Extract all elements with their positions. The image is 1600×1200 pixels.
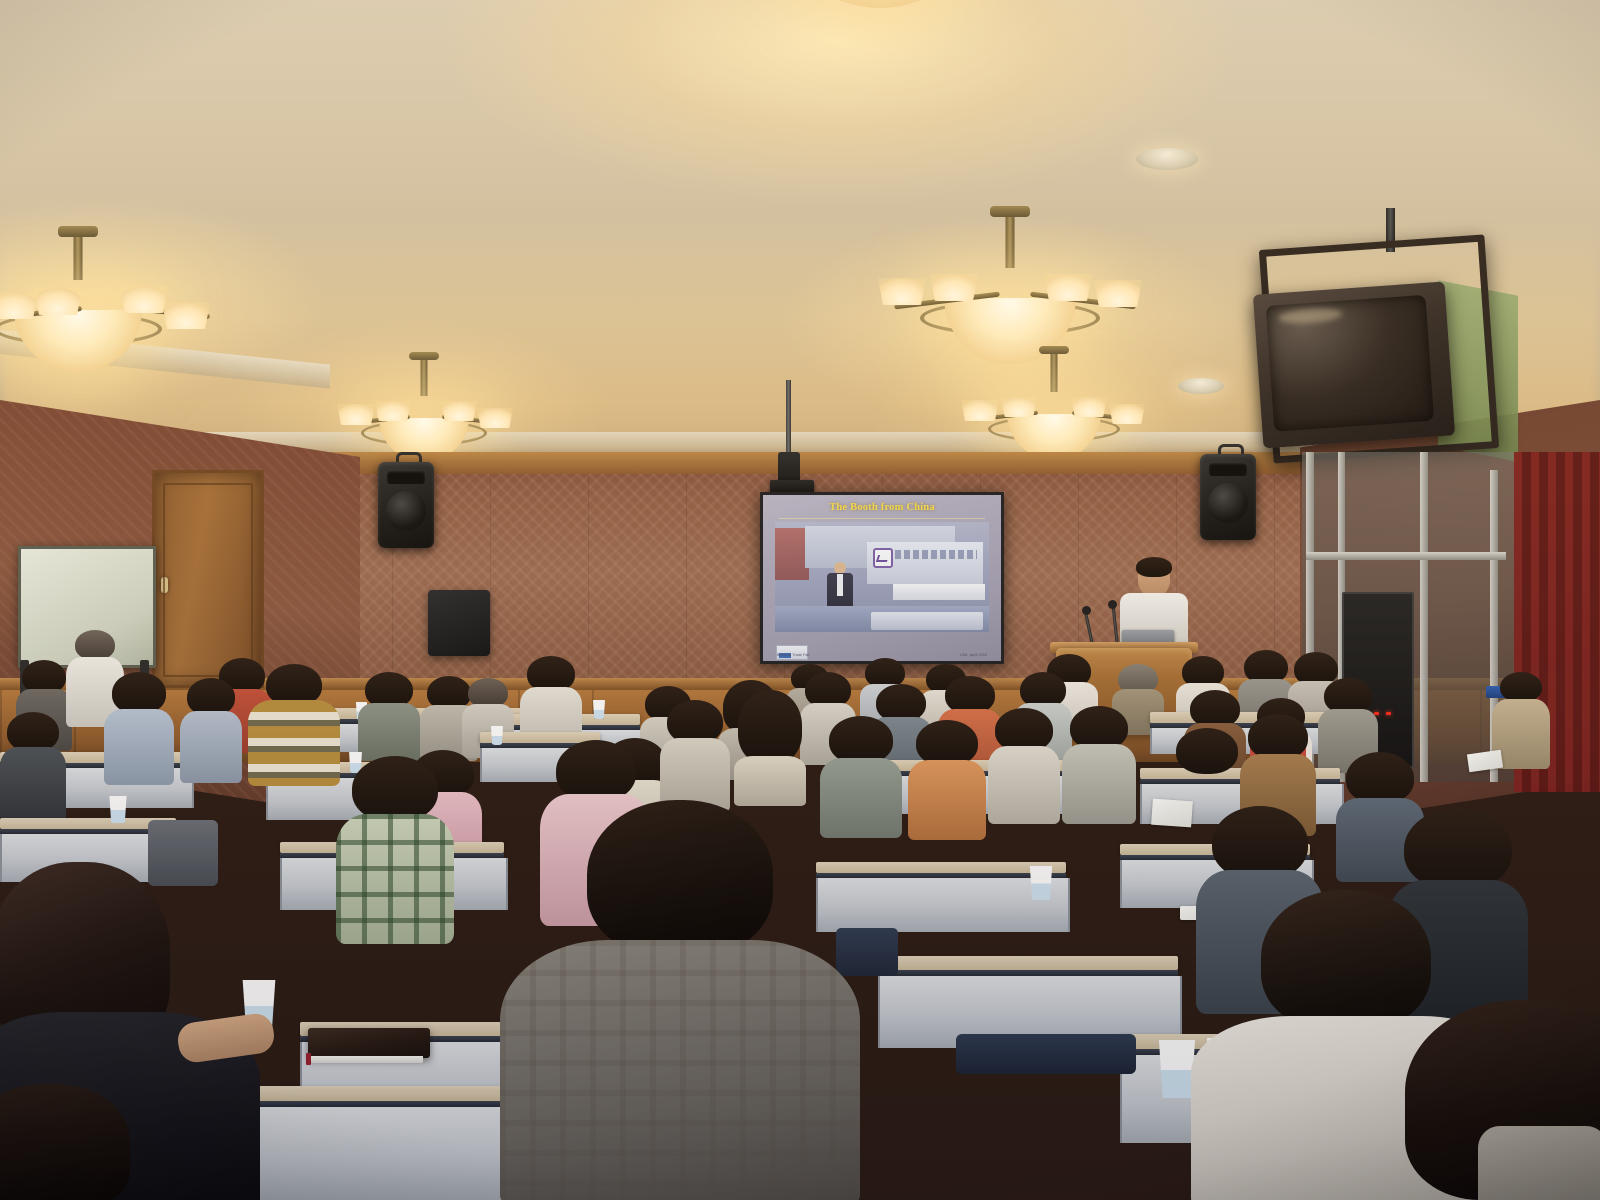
chair-back [956,1034,1136,1074]
notebook-ribbon [306,1053,311,1065]
chandelier-right [872,206,1148,362]
door-knob-icon [161,577,168,593]
dome-light-icon [1136,148,1198,170]
audience-member [0,1084,180,1200]
presenter-hair [1136,557,1172,577]
wooden-door[interactable] [152,470,264,688]
audience-member [908,720,986,836]
paper-cup [1028,866,1054,900]
projected-slide: The Booth from China [763,495,1001,661]
conference-room-photo: The Booth from China [0,0,1600,1200]
slide-footer-left: Booth at Trade Fair [777,653,810,657]
booth-red-wall [775,528,809,580]
audience-member [358,672,420,758]
paper-cup [592,700,606,719]
audience-member [660,700,730,810]
led-indicator [1386,712,1391,715]
audience-member [1062,706,1136,820]
pa-speaker-left [378,462,434,548]
window-mullion [1420,452,1428,782]
audience-member-foreground-center [500,800,860,1200]
chandelier-mid-left [338,352,514,458]
paper-cup [108,796,128,823]
chandelier-left [0,226,210,368]
leather-notebook [308,1028,430,1058]
chandelier-right-lower [962,346,1146,458]
audience-member-long-hair [734,690,806,802]
slide-title-underline [779,518,985,519]
dome-light-icon [1178,378,1224,394]
pa-speaker-right [1200,454,1256,540]
slide-photograph [775,522,989,632]
booth-logo-icon [873,548,893,568]
projection-screen[interactable]: The Booth from China [760,492,1004,664]
slide-footer-right: USA, April 2004 [960,653,987,657]
booth-brand-text [895,550,977,559]
audience-member [0,712,66,820]
microphone-icon [1082,606,1091,615]
booth-table [871,612,983,630]
audience-member [180,678,242,782]
ceiling-tv[interactable] [1253,281,1455,448]
booth-counter [893,584,985,600]
audience-member-striped-polo [248,664,340,784]
microphone-icon [1108,600,1117,609]
audience-member [104,672,174,784]
audience-member [336,756,454,936]
shoulder [1478,1126,1600,1200]
booth-presenter-shirt [837,574,843,596]
av-equipment-case [428,590,490,656]
slide-title: The Booth from China [763,502,1001,513]
chandelier-foreground [620,0,1140,70]
window-mullion [1306,552,1506,560]
audience-member [988,708,1060,820]
paper-cup [490,726,504,745]
